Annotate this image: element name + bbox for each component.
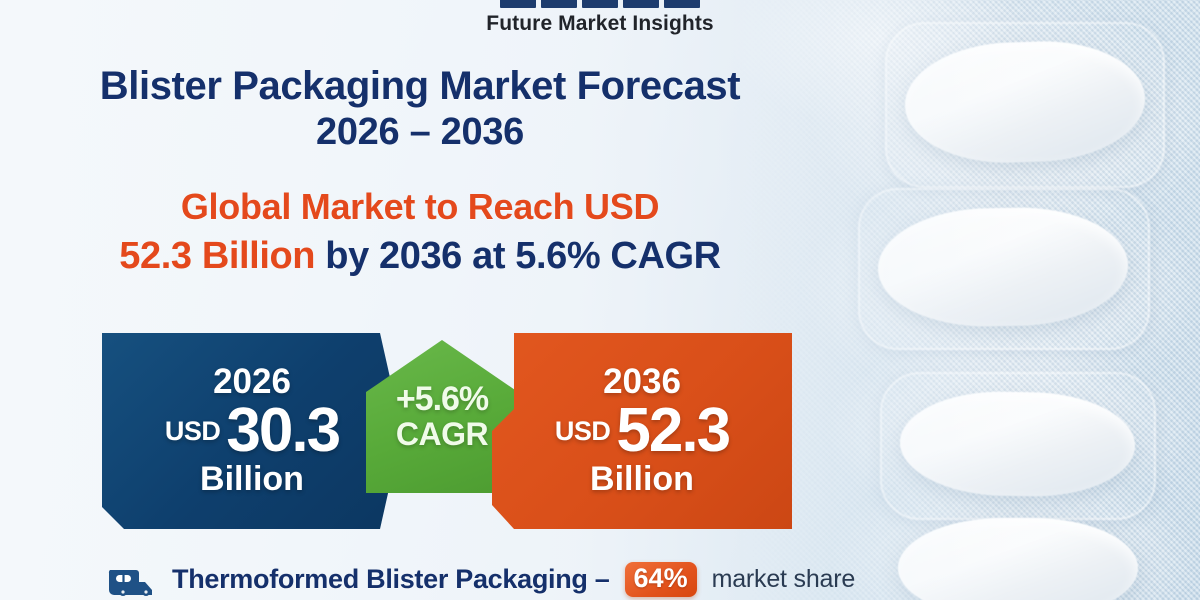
cagr-label: CAGR	[396, 418, 488, 452]
segment-highlight: Thermoformed Blister Packaging – 64% mar…	[108, 562, 855, 597]
logo-text: Future Market Insights	[486, 12, 713, 36]
forecast-year-currency: USD	[555, 416, 611, 447]
base-year-value: 30.3	[226, 401, 339, 462]
forecast-year-value-row: USD 52.3	[555, 401, 729, 462]
logo-bars-icon	[500, 0, 700, 8]
market-share-caption: market share	[712, 565, 856, 594]
forecast-year-label: 2036	[603, 364, 681, 399]
pharmacy-delivery-truck-icon	[108, 564, 160, 596]
subheadline: Global Market to Reach USD 52.3 Billion …	[0, 186, 840, 278]
base-year-currency: USD	[165, 416, 221, 447]
subheadline-line-2: 52.3 Billion by 2036 at 5.6% CAGR	[0, 234, 840, 278]
forecast-year-unit: Billion	[590, 462, 694, 498]
segment-label: Thermoformed Blister Packaging –	[172, 564, 610, 595]
market-share-badge: 64%	[625, 562, 697, 597]
brand-logo: Future Market Insights	[0, 0, 1200, 36]
forecast-year-panel: 2036 USD 52.3 Billion	[492, 333, 792, 529]
subheadline-line-1: Global Market to Reach USD	[0, 186, 840, 228]
base-year-unit: Billion	[200, 462, 304, 498]
headline-line-1: Blister Packaging Market Forecast	[0, 64, 840, 109]
forecast-year-value: 52.3	[616, 401, 729, 462]
infographic-canvas: Future Market Insights Blister Packaging…	[0, 0, 1200, 600]
forecast-amount: 52.3 Billion	[119, 235, 315, 277]
base-year-panel: 2026 USD 30.3 Billion	[102, 333, 402, 529]
headline-line-2: 2026 – 2036	[0, 111, 840, 154]
page-title: Blister Packaging Market Forecast 2026 –…	[0, 64, 840, 153]
cagr-value: +5.6%	[396, 382, 488, 418]
stat-banner: 2026 USD 30.3 Billion +5.6% CAGR 2036 US…	[102, 333, 792, 529]
base-year-value-row: USD 30.3	[165, 401, 339, 462]
base-year-label: 2026	[213, 364, 291, 399]
forecast-detail: by 2036 at 5.6% CAGR	[315, 235, 721, 277]
